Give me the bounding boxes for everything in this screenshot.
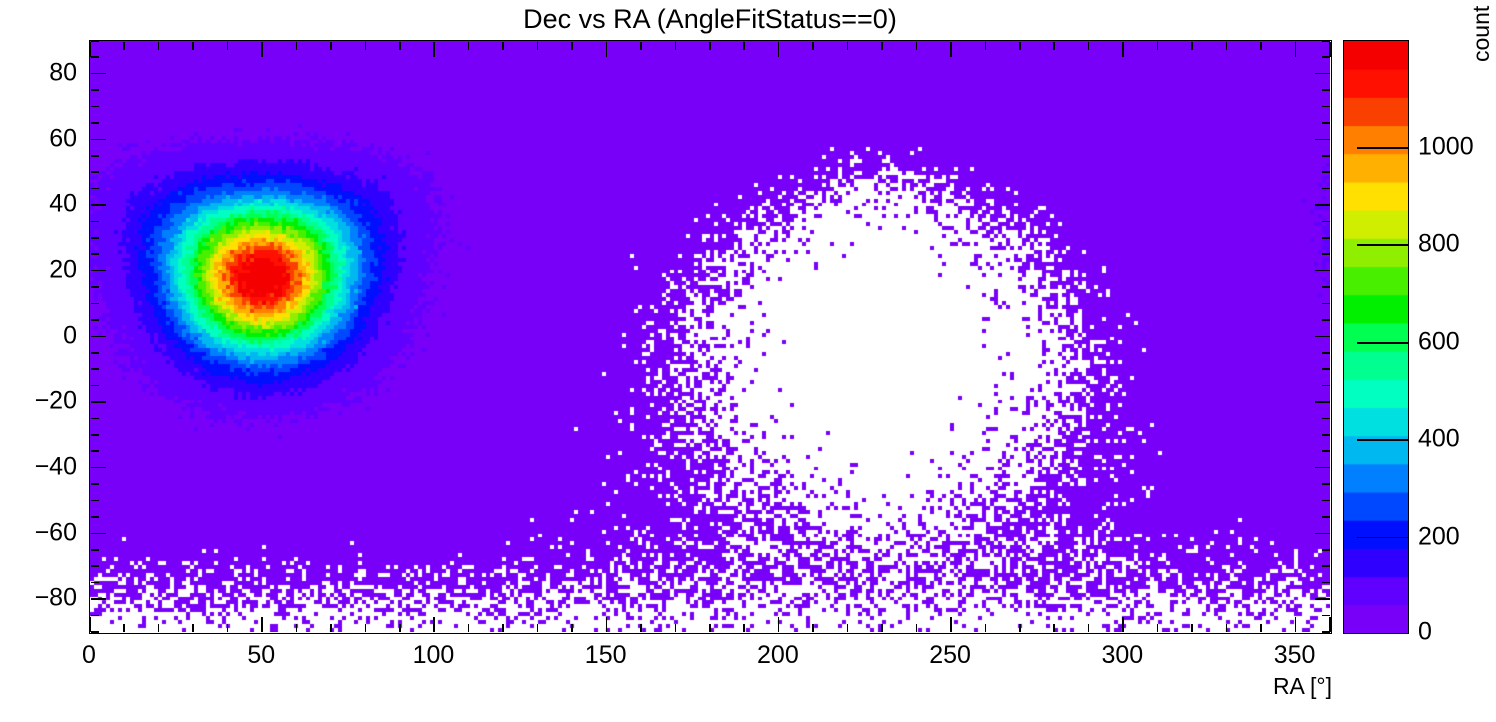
y-minor-tick	[91, 155, 99, 157]
color-scale-tick	[1357, 439, 1409, 441]
y-minor-tick	[91, 221, 99, 223]
x-minor-tick-top	[158, 42, 160, 50]
x-minor-tick	[158, 624, 160, 632]
x-major-tick-top	[261, 42, 263, 57]
y-minor-tick-right	[1322, 155, 1330, 157]
color-scale-tick	[1357, 147, 1409, 149]
color-scale-canvas	[1344, 41, 1408, 633]
x-major-tick	[1295, 617, 1297, 632]
x-minor-tick-top	[640, 42, 642, 50]
x-minor-tick	[399, 624, 401, 632]
y-minor-tick	[91, 40, 99, 42]
y-minor-tick	[91, 450, 99, 452]
color-scale-tick-label: 200	[1418, 522, 1460, 551]
x-minor-tick-top	[227, 42, 229, 50]
y-minor-tick-right	[1322, 303, 1330, 305]
y-minor-tick	[91, 237, 99, 239]
y-minor-tick-right	[1322, 483, 1330, 485]
y-major-tick	[91, 204, 106, 206]
x-minor-tick	[502, 624, 504, 632]
y-minor-tick	[91, 434, 99, 436]
x-minor-tick	[1226, 624, 1228, 632]
y-major-tick-right	[1315, 598, 1330, 600]
y-major-tick	[91, 270, 106, 272]
y-minor-tick	[91, 56, 99, 58]
y-tick-label: −60	[0, 518, 77, 547]
y-minor-tick	[91, 286, 99, 288]
y-minor-tick-right	[1322, 500, 1330, 502]
x-minor-tick	[468, 624, 470, 632]
y-minor-tick	[91, 303, 99, 305]
x-minor-tick-top	[1260, 42, 1262, 50]
x-minor-tick-top	[1088, 42, 1090, 50]
x-tick-label: 150	[585, 641, 627, 670]
x-major-tick-top	[606, 42, 608, 57]
color-scale-tick-label: 600	[1418, 327, 1460, 356]
y-major-tick	[91, 73, 106, 75]
y-minor-tick-right	[1322, 385, 1330, 387]
x-minor-tick-top	[571, 42, 573, 50]
y-minor-tick-right	[1322, 450, 1330, 452]
y-major-tick-right	[1315, 204, 1330, 206]
x-minor-tick	[985, 624, 987, 632]
x-minor-tick-top	[330, 42, 332, 50]
y-minor-tick-right	[1322, 434, 1330, 436]
y-minor-tick	[91, 188, 99, 190]
x-tick-label: 300	[1101, 641, 1143, 670]
y-minor-tick	[91, 565, 99, 567]
y-minor-tick-right	[1322, 286, 1330, 288]
y-minor-tick-right	[1322, 516, 1330, 518]
y-major-tick-right	[1315, 467, 1330, 469]
x-major-tick-top	[778, 42, 780, 57]
x-minor-tick-top	[675, 42, 677, 50]
y-tick-label: 80	[0, 58, 77, 87]
x-major-tick-top	[89, 42, 91, 57]
x-minor-tick	[1019, 624, 1021, 632]
x-minor-tick	[192, 624, 194, 632]
x-minor-tick	[1053, 624, 1055, 632]
x-minor-tick-top	[399, 42, 401, 50]
y-minor-tick	[91, 500, 99, 502]
x-minor-tick-top	[537, 42, 539, 50]
x-minor-tick	[640, 624, 642, 632]
x-major-tick	[1122, 617, 1124, 632]
x-minor-tick-top	[502, 42, 504, 50]
x-major-tick	[261, 617, 263, 632]
x-major-tick	[433, 617, 435, 632]
y-minor-tick	[91, 385, 99, 387]
x-minor-tick	[881, 624, 883, 632]
y-minor-tick	[91, 516, 99, 518]
x-minor-tick-top	[123, 42, 125, 50]
y-minor-tick-right	[1322, 237, 1330, 239]
color-scale-tick-label: 800	[1418, 230, 1460, 259]
y-tick-label: 0	[0, 321, 77, 350]
y-minor-tick	[91, 483, 99, 485]
y-minor-tick-right	[1322, 40, 1330, 42]
y-minor-tick-right	[1322, 565, 1330, 567]
x-major-tick-top	[1295, 42, 1297, 57]
x-tick-label: 100	[413, 641, 455, 670]
y-minor-tick	[91, 368, 99, 370]
x-tick-label: 200	[757, 641, 799, 670]
y-tick-label: 40	[0, 190, 77, 219]
y-minor-tick-right	[1322, 615, 1330, 617]
color-scale-bar	[1343, 40, 1409, 634]
x-minor-tick	[571, 624, 573, 632]
x-minor-tick	[1191, 624, 1193, 632]
x-minor-tick-top	[1019, 42, 1021, 50]
x-minor-tick	[1157, 624, 1159, 632]
y-minor-tick	[91, 122, 99, 124]
x-minor-tick	[365, 624, 367, 632]
x-minor-tick	[123, 624, 125, 632]
x-tick-label: 250	[929, 641, 971, 670]
x-minor-tick-top	[365, 42, 367, 50]
y-minor-tick-right	[1322, 122, 1330, 124]
y-minor-tick	[91, 582, 99, 584]
y-major-tick	[91, 598, 106, 600]
color-scale-tick-label: 0	[1418, 618, 1432, 647]
y-major-tick	[91, 336, 106, 338]
color-scale-tick	[1357, 537, 1409, 539]
y-minor-tick	[91, 549, 99, 551]
y-major-tick	[91, 139, 106, 141]
x-minor-tick	[812, 624, 814, 632]
y-minor-tick	[91, 615, 99, 617]
x-axis-title: RA [°]	[1273, 673, 1332, 700]
x-minor-tick	[537, 624, 539, 632]
y-minor-tick	[91, 319, 99, 321]
y-minor-tick-right	[1322, 631, 1330, 633]
x-minor-tick-top	[468, 42, 470, 50]
x-minor-tick-top	[916, 42, 918, 50]
y-minor-tick	[91, 89, 99, 91]
y-minor-tick-right	[1322, 221, 1330, 223]
y-minor-tick	[91, 106, 99, 108]
y-minor-tick-right	[1322, 368, 1330, 370]
y-major-tick-right	[1315, 139, 1330, 141]
y-major-tick-right	[1315, 336, 1330, 338]
y-minor-tick-right	[1322, 352, 1330, 354]
x-tick-label: 50	[247, 641, 275, 670]
y-major-tick	[91, 401, 106, 403]
y-major-tick-right	[1315, 73, 1330, 75]
x-major-tick	[950, 617, 952, 632]
x-minor-tick-top	[1053, 42, 1055, 50]
y-major-tick-right	[1315, 401, 1330, 403]
y-minor-tick-right	[1322, 89, 1330, 91]
x-minor-tick-top	[1226, 42, 1228, 50]
y-minor-tick-right	[1322, 582, 1330, 584]
x-minor-tick-top	[812, 42, 814, 50]
y-minor-tick-right	[1322, 56, 1330, 58]
color-scale-title: count	[1468, 6, 1495, 62]
histogram-canvas	[90, 41, 1330, 632]
x-major-tick	[606, 617, 608, 632]
y-tick-label: −20	[0, 387, 77, 416]
x-major-tick-top	[1329, 42, 1331, 57]
y-minor-tick-right	[1322, 188, 1330, 190]
x-minor-tick-top	[1157, 42, 1159, 50]
y-major-tick-right	[1315, 270, 1330, 272]
y-major-tick	[91, 467, 106, 469]
x-minor-tick	[330, 624, 332, 632]
x-minor-tick	[916, 624, 918, 632]
x-minor-tick	[296, 624, 298, 632]
x-minor-tick	[1088, 624, 1090, 632]
x-minor-tick-top	[985, 42, 987, 50]
x-minor-tick-top	[709, 42, 711, 50]
color-scale-tick	[1357, 342, 1409, 344]
x-major-tick	[778, 617, 780, 632]
y-tick-label: 20	[0, 255, 77, 284]
x-minor-tick-top	[1191, 42, 1193, 50]
page-title: Dec vs RA (AngleFitStatus==0)	[0, 4, 1420, 35]
x-major-tick-top	[1122, 42, 1124, 57]
y-major-tick-right	[1315, 533, 1330, 535]
color-scale-tick-label: 400	[1418, 425, 1460, 454]
y-tick-label: −80	[0, 584, 77, 613]
y-minor-tick	[91, 418, 99, 420]
y-minor-tick-right	[1322, 106, 1330, 108]
x-minor-tick	[675, 624, 677, 632]
y-minor-tick-right	[1322, 253, 1330, 255]
x-tick-label: 0	[82, 641, 96, 670]
x-minor-tick	[743, 624, 745, 632]
x-minor-tick-top	[296, 42, 298, 50]
x-tick-label: 350	[1274, 641, 1316, 670]
x-minor-tick-top	[192, 42, 194, 50]
y-tick-label: −40	[0, 452, 77, 481]
y-minor-tick-right	[1322, 549, 1330, 551]
plot-frame	[89, 40, 1332, 634]
y-minor-tick	[91, 631, 99, 633]
y-minor-tick	[91, 253, 99, 255]
y-minor-tick	[91, 171, 99, 173]
y-minor-tick-right	[1322, 418, 1330, 420]
y-minor-tick-right	[1322, 171, 1330, 173]
y-tick-label: 60	[0, 124, 77, 153]
color-scale-tick	[1357, 244, 1409, 246]
color-scale-tick-label: 1000	[1418, 133, 1474, 162]
plot-page: Dec vs RA (AngleFitStatus==0) 0501001502…	[0, 0, 1496, 722]
y-major-tick	[91, 533, 106, 535]
x-major-tick-top	[950, 42, 952, 57]
y-minor-tick-right	[1322, 319, 1330, 321]
x-minor-tick	[1260, 624, 1262, 632]
x-minor-tick-top	[881, 42, 883, 50]
x-minor-tick-top	[847, 42, 849, 50]
x-minor-tick	[227, 624, 229, 632]
x-minor-tick	[709, 624, 711, 632]
x-major-tick-top	[433, 42, 435, 57]
x-minor-tick-top	[743, 42, 745, 50]
x-minor-tick	[847, 624, 849, 632]
y-minor-tick	[91, 352, 99, 354]
